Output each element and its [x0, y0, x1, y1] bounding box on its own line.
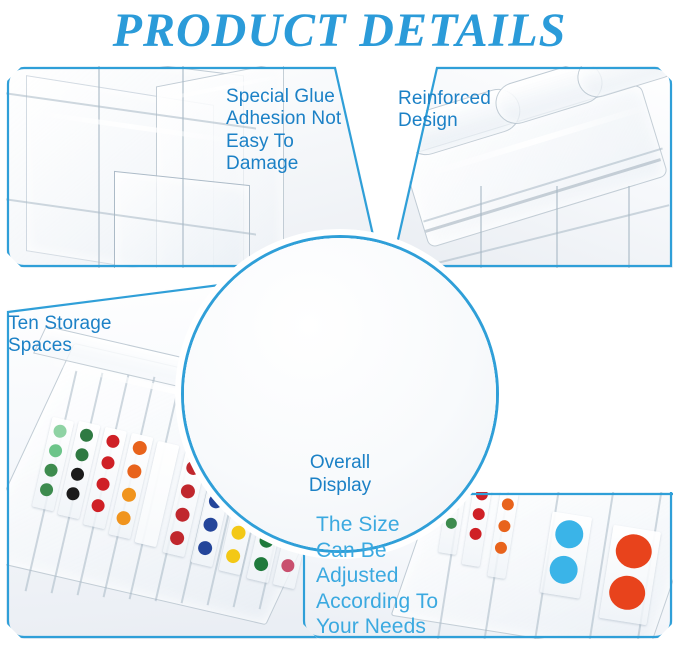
product-details-infographic: PRODUCT DETAILS Special Glue Adhesion No… — [0, 0, 679, 645]
page-title: PRODUCT DETAILS — [113, 7, 567, 55]
title-bar: PRODUCT DETAILS — [0, 0, 679, 62]
label-glue-adhesion: Special Glue Adhesion Not Easy To Damage — [226, 86, 386, 176]
label-overall-display: Overall Display — [184, 452, 496, 639]
label-ten-storage-spaces: Ten Storage Spaces — [8, 313, 158, 358]
label-reinforced-design: Reinforced Design — [398, 88, 548, 133]
